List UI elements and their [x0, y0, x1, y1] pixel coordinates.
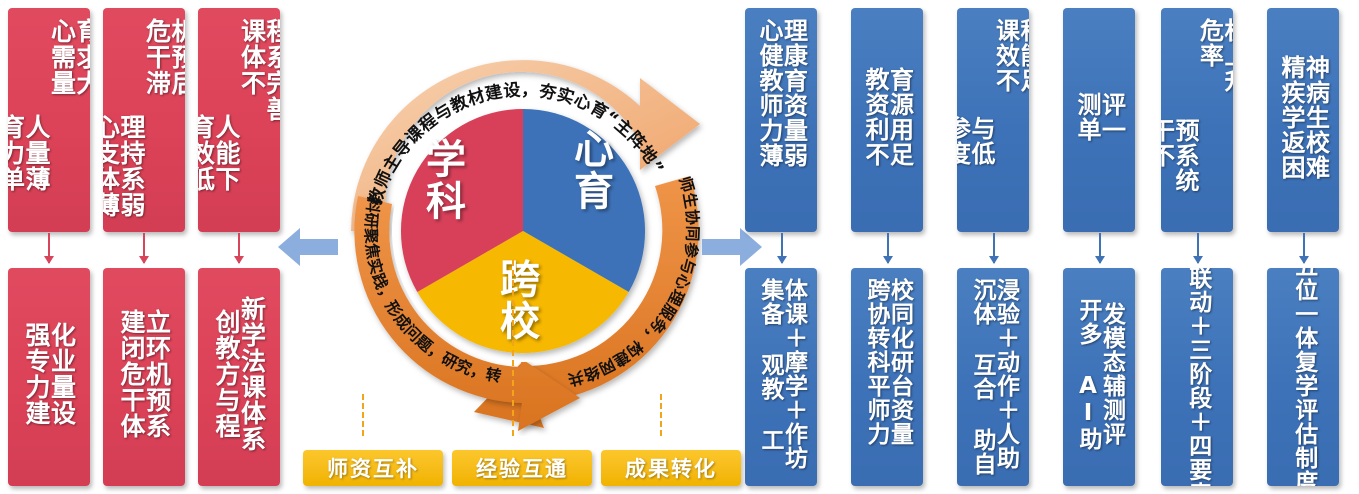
vcol: 人能下	[214, 114, 240, 192]
solution-box-right-2[interactable]: 校同化研台资量 跨协转科平师力	[851, 268, 923, 486]
problem-box-right-3[interactable]: 程能足 课效不 与低 参度	[957, 8, 1029, 232]
connector-right-2	[887, 233, 889, 263]
vcol: 与低	[969, 116, 993, 166]
vcol: 化业量设	[49, 322, 75, 426]
vcol: 机预后	[170, 18, 186, 96]
vcol: 体课＋摩学＋作坊	[781, 278, 804, 470]
vcol: 课体不	[239, 18, 265, 96]
problem-box-left-3[interactable]: 程系完善 课体不 人能下 育效低	[198, 8, 280, 232]
vcol: 育源用足	[887, 67, 911, 167]
solution-box-left-2[interactable]: 立环机预系 建闭危干体	[103, 268, 185, 486]
connector-left-3	[238, 233, 240, 263]
vcol: 三联动＋三阶段＋四要素	[1185, 268, 1208, 486]
segment-label-xueke: 学科	[422, 138, 462, 222]
vcol: 测单	[1075, 92, 1099, 142]
segment-label-kuaxiao: 跨校	[496, 258, 536, 342]
vcol: 理康育资量弱	[781, 18, 805, 168]
vcol: 校同化研台资量	[887, 278, 910, 446]
central-wheel: 教师主导课程与教材建设，夯实心育“主阵地” 师生协同参与心理服务，构建网络共同体…	[318, 26, 728, 436]
vcol: 发模态辅测评	[1099, 302, 1122, 446]
vcol: 育求大	[75, 18, 91, 96]
tag-label: 经验互通	[476, 453, 568, 483]
connector-right-6	[1303, 233, 1305, 263]
vcol: 集备 观教 工	[758, 278, 781, 452]
connector-right-5	[1197, 233, 1199, 263]
connector-left-1	[48, 233, 50, 263]
vcol: 五位一体复学评估制度	[1291, 268, 1314, 486]
vcol: 新学法课体系	[239, 296, 265, 452]
vcol: 课效不	[993, 18, 1017, 93]
tag-chengguozhuanhua[interactable]: 成果转化	[601, 450, 741, 486]
solution-box-right-6[interactable]: 五位一体复学评估制度	[1267, 268, 1339, 486]
vcol: 程系完善	[265, 18, 281, 122]
solution-box-left-1[interactable]: 化业量设 强专力建	[8, 268, 90, 486]
vcol: 理持系弱	[119, 114, 145, 218]
vcol: 精疾学返困	[1279, 55, 1303, 180]
vcol: 机上升	[1221, 18, 1233, 93]
vcol: 教资利不	[863, 67, 887, 167]
vcol: 跨协转科平师力	[864, 278, 887, 446]
diagram-canvas: 育求大 心需量 人量薄 育力单 机预后 危干滞 理持系弱 心支体薄 程系完善 课…	[0, 0, 1359, 494]
problem-box-right-2[interactable]: 育源用足 教资利不	[851, 8, 923, 232]
solution-box-left-3[interactable]: 新学法课体系 创教方与程	[198, 268, 280, 486]
solution-box-right-4[interactable]: 发模态辅测评 开多 AI助	[1063, 268, 1135, 486]
vcol: 程能足	[1017, 18, 1029, 93]
solution-box-right-1[interactable]: 体课＋摩学＋作坊 集备 观教 工	[745, 268, 817, 486]
connector-right-4	[1099, 233, 1101, 263]
problem-box-left-2[interactable]: 机预后 危干滞 理持系弱 心支体薄	[103, 8, 185, 232]
tag-jingyanhutong[interactable]: 经验互通	[452, 450, 592, 486]
vcol: 预系统	[1173, 118, 1197, 193]
vcol: 开多 AI助	[1076, 298, 1099, 451]
connector-left-2	[143, 233, 145, 263]
problem-box-right-5[interactable]: 机上升 危率 预系统 干不	[1161, 8, 1233, 232]
connector-right-1	[781, 233, 783, 263]
tag-label: 成果转化	[625, 453, 717, 483]
vcol: 神病生校难	[1303, 55, 1327, 180]
segment-label-xinyu: 心育	[570, 128, 610, 212]
vcol: 创教方与程	[214, 309, 240, 439]
dash-bracket	[362, 394, 662, 436]
vcol: 立环机预系	[144, 309, 170, 439]
tag-shizihubu[interactable]: 师资互补	[303, 450, 443, 486]
vcol: 心健教师力薄	[757, 18, 781, 168]
tag-label: 师资互补	[327, 453, 419, 483]
vcol: 沉体 互合 助自	[970, 278, 993, 476]
vcol: 评一	[1099, 92, 1123, 142]
solution-box-right-3[interactable]: 浸验＋动作＋人助 沉体 互合 助自	[957, 268, 1029, 486]
vcol: 建闭危干体	[119, 309, 145, 439]
vcol: 危干滞	[144, 18, 170, 96]
vcol: 强专力建	[24, 322, 50, 426]
vcol: 危率	[1197, 18, 1221, 68]
problem-box-right-6[interactable]: 神病生校难 精疾学返困	[1267, 8, 1339, 232]
problem-box-right-1[interactable]: 理康育资量弱 心健教师力薄	[745, 8, 817, 232]
vcol: 人量薄	[24, 114, 50, 192]
problem-box-right-4[interactable]: 评一 测单	[1063, 8, 1135, 232]
problem-box-left-1[interactable]: 育求大 心需量 人量薄 育力单	[8, 8, 90, 232]
solution-box-right-5[interactable]: 三联动＋三阶段＋四要素	[1161, 268, 1233, 486]
connector-right-3	[993, 233, 995, 263]
vcol: 浸验＋动作＋人助	[993, 278, 1016, 470]
vcol: 心需量	[49, 18, 75, 96]
